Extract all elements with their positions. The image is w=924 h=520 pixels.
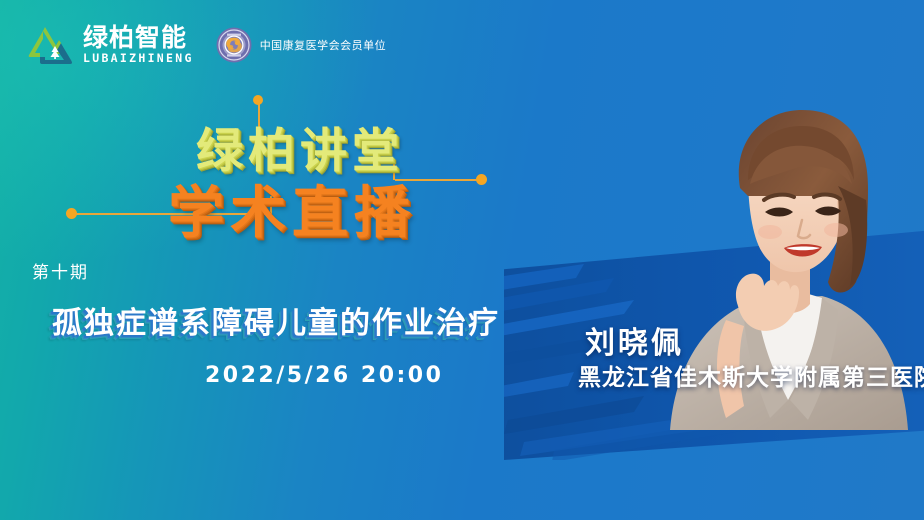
speaker-organization: 黑龙江省佳木斯大学附属第三医院: [578, 358, 924, 392]
speaker-name: 刘晓佩: [585, 318, 684, 362]
title-line-2: 学术直播: [168, 168, 416, 249]
accent-dot-top: [253, 95, 263, 105]
session-datetime: 2022/5/26 20:00: [205, 363, 443, 388]
china-rehabilitation-association-emblem-icon: [216, 27, 252, 63]
brand-logo: 绿柏智能 LUBAIZHINENG: [28, 24, 194, 66]
header-logos: 绿柏智能 LUBAIZHINENG 中国康复医学会会员单位: [28, 24, 386, 66]
episode-label: 第十期: [32, 258, 89, 283]
association-badge: 中国康复医学会会员单位: [216, 27, 387, 63]
session-subject: 孤独症谱系障碍儿童的作业治疗: [52, 298, 500, 342]
brand-name-en: LUBAIZHINENG: [83, 53, 194, 65]
mountain-pine-logo-icon: [28, 24, 74, 66]
brand-name-cn: 绿柏智能: [83, 25, 194, 50]
association-text: 中国康复医学会会员单位: [260, 37, 387, 53]
speaker-stage: [504, 0, 924, 520]
accent-dot-right: [476, 174, 487, 185]
live-stream-poster: 绿柏智能 LUBAIZHINENG 中国康复医学会会员单位: [0, 0, 924, 520]
accent-dot-left: [66, 208, 77, 219]
